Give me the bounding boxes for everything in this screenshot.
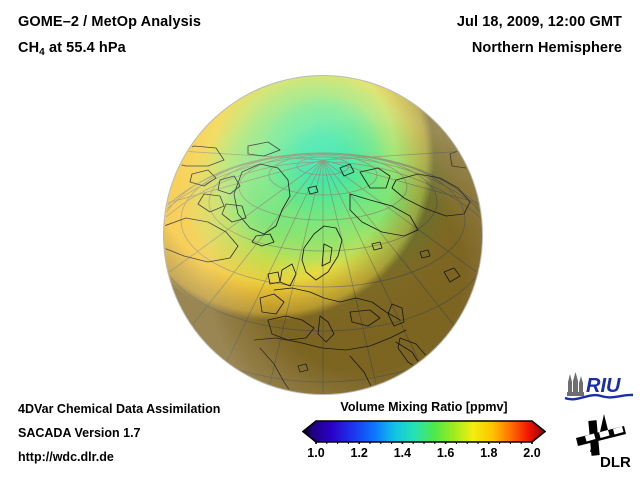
colorbar-tick-labels: 1.01.21.41.61.82.0 (302, 446, 546, 464)
dlr-mark-icon (576, 414, 626, 457)
method-label: 4DVar Chemical Data Assimilation (18, 402, 220, 416)
coastline-overlay (164, 76, 482, 394)
species-level-label: CH4 at 55.4 hPa (18, 40, 126, 56)
figure-canvas: GOME–2 / MetOp Analysis CH4 at 55.4 hPa … (0, 0, 640, 480)
colorbar-tick-label: 1.0 (307, 446, 324, 460)
cathedral-icon (567, 372, 584, 396)
species-subscript: 4 (39, 47, 45, 58)
dlr-logo: DLR (570, 412, 632, 470)
pressure-level: at 55.4 hPa (45, 40, 126, 56)
colorbar-tick-label: 2.0 (523, 446, 540, 460)
version-label: SACADA Version 1.7 (18, 426, 141, 440)
source-url-label: http://wdc.dlr.de (18, 450, 114, 464)
colorbar-title: Volume Mixing Ratio [ppmv] (316, 400, 532, 414)
timestamp-label: Jul 18, 2009, 12:00 GMT (457, 14, 622, 30)
page-title: GOME–2 / MetOp Analysis (18, 14, 201, 30)
colorbar-tick-label: 1.8 (480, 446, 497, 460)
colorbar-ticks (316, 442, 532, 444)
species-name: CH (18, 40, 39, 56)
dlr-wordmark: DLR (600, 454, 631, 470)
colorbar (302, 420, 546, 444)
riu-wordmark: RIU (586, 375, 621, 397)
globe-map (164, 76, 482, 394)
colorbar-tick-label: 1.2 (350, 446, 367, 460)
colorbar-tick-label: 1.4 (394, 446, 411, 460)
colorbar-tick-label: 1.6 (437, 446, 454, 460)
riu-logo: RIU (563, 370, 635, 404)
region-label: Northern Hemisphere (472, 40, 622, 56)
